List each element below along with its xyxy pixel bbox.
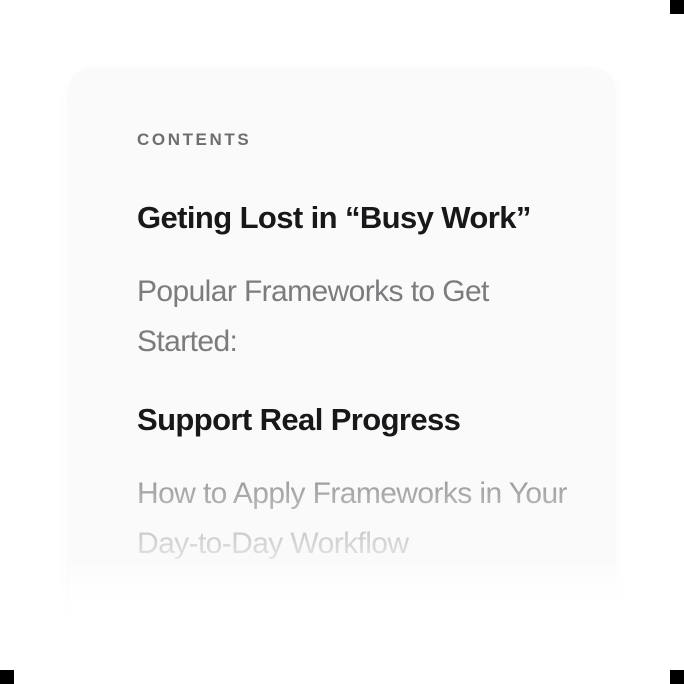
crop-mark-bottom-right [670, 670, 684, 684]
toc-spacer-2 [137, 445, 585, 469]
crop-mark-bottom-left [0, 670, 14, 684]
crop-mark-top-right [670, 0, 684, 14]
toc-item-3[interactable]: How to Apply Frameworks in Your Day-to-D… [137, 469, 585, 569]
page-canvas: CONTENTS Geting Lost in “Busy Work” Popu… [0, 0, 684, 684]
toc-item-2[interactable]: Support Real Progress [137, 395, 585, 445]
toc-item-1[interactable]: Popular Frameworks to Get Started: [137, 267, 585, 367]
card-content: CONTENTS Geting Lost in “Busy Work” Popu… [69, 68, 615, 569]
table-of-contents-card: CONTENTS Geting Lost in “Busy Work” Popu… [69, 68, 615, 628]
toc-spacer-0 [137, 243, 585, 267]
toc-spacer-1 [137, 367, 585, 395]
toc-item-0[interactable]: Geting Lost in “Busy Work” [137, 193, 585, 243]
contents-heading: CONTENTS [137, 131, 585, 148]
